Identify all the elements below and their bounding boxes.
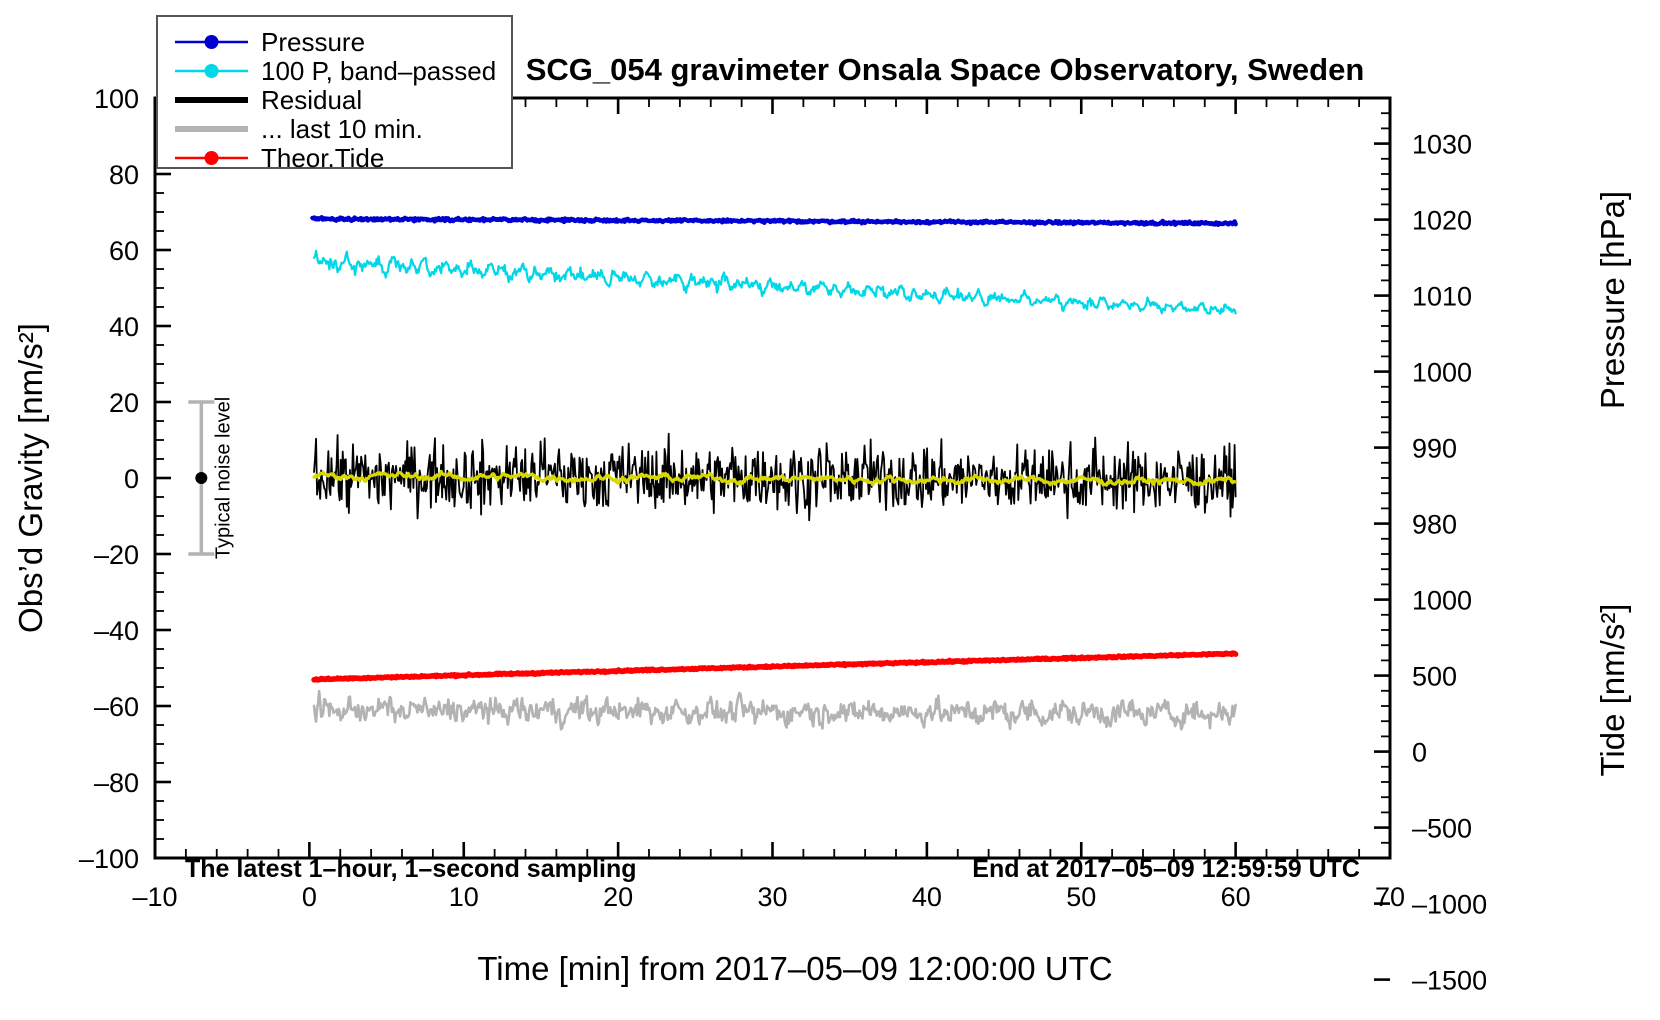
legend-item-label: Theor.Tide xyxy=(261,143,384,173)
right-top-tick-label: 1000 xyxy=(1412,358,1472,388)
y-tick-label: 60 xyxy=(109,236,139,266)
right-bottom-tick-label: 500 xyxy=(1412,662,1457,692)
legend-item-label: 100 P, band–passed xyxy=(261,56,496,86)
right-top-tick-label: 980 xyxy=(1412,510,1457,540)
right-top-tick-label: 1030 xyxy=(1412,130,1472,160)
chart-title: SCG_054 gravimeter Onsala Space Observat… xyxy=(526,52,1365,87)
x-tick-label: 40 xyxy=(912,882,942,912)
series-line xyxy=(314,251,1236,314)
y-tick-label: –40 xyxy=(94,616,139,646)
legend[interactable]: Pressure100 P, band–passedResidual... la… xyxy=(157,16,512,173)
right-bottom-tick-label: –1500 xyxy=(1412,966,1487,996)
series-line xyxy=(314,691,1236,729)
x-axis-title: Time [min] from 2017–05–09 12:00:00 UTC xyxy=(477,950,1112,987)
right-bottom-tick-label: 1000 xyxy=(1412,586,1472,616)
legend-item-label: Residual xyxy=(261,85,362,115)
y-tick-label: 20 xyxy=(109,388,139,418)
y-tick-label: –100 xyxy=(79,844,139,874)
x-tick-label: 10 xyxy=(449,882,479,912)
y-tick-label: 0 xyxy=(124,464,139,494)
x-tick-label: 20 xyxy=(603,882,633,912)
y-tick-label: –60 xyxy=(94,692,139,722)
chart-canvas: –10010203040506070 –100–80–60–40–2002040… xyxy=(0,0,1660,1020)
bottom-left-note: The latest 1–hour, 1–second sampling xyxy=(185,855,637,883)
x-tick-label: 0 xyxy=(302,882,317,912)
right-bottom-tick-label: 0 xyxy=(1412,738,1427,768)
series-line xyxy=(314,653,1236,680)
y-tick-label: –20 xyxy=(94,540,139,570)
x-tick-label: 60 xyxy=(1221,882,1251,912)
right-top-tick-label: 1020 xyxy=(1412,206,1472,236)
right-bottom-tick-label: –1000 xyxy=(1412,890,1487,920)
right-top-axis-title: Pressure [hPa] xyxy=(1594,191,1631,409)
y-tick-label: 100 xyxy=(94,84,139,114)
y-tick-label: 80 xyxy=(109,160,139,190)
x-tick-label: 30 xyxy=(757,882,787,912)
right-top-tick-label: 1010 xyxy=(1412,282,1472,312)
gravimeter-timeseries-plot: –10010203040506070 –100–80–60–40–2002040… xyxy=(0,0,1660,1020)
y-tick-label: 40 xyxy=(109,312,139,342)
noise-level-label: Typical noise level xyxy=(212,397,234,559)
typical-noise-level-annotation xyxy=(188,402,214,554)
data-series-layer xyxy=(312,217,1235,729)
right-bottom-axis-title: Tide [nm/s²] xyxy=(1594,604,1631,777)
noise-bar-center-dot xyxy=(195,472,207,484)
x-tick-label: –10 xyxy=(132,882,177,912)
x-tick-label: 50 xyxy=(1066,882,1096,912)
right-top-tick-label: 990 xyxy=(1412,434,1457,464)
series-line xyxy=(312,217,1235,224)
y-tick-label: –80 xyxy=(94,768,139,798)
legend-item-label: Pressure xyxy=(261,27,365,57)
legend-swatch-marker xyxy=(205,151,219,165)
legend-item-label: ... last 10 min. xyxy=(261,114,423,144)
y-axis-ticks: –100–80–60–40–20020406080100 xyxy=(79,84,171,874)
y-axis-title: Obs’d Gravity [nm/s²] xyxy=(12,323,49,633)
bottom-right-note: End at 2017–05–09 12:59:59 UTC xyxy=(972,855,1360,883)
right-bottom-tick-label: –500 xyxy=(1412,814,1472,844)
legend-swatch-marker xyxy=(205,64,219,78)
x-tick-label: 70 xyxy=(1375,882,1405,912)
legend-swatch-marker xyxy=(205,35,219,49)
